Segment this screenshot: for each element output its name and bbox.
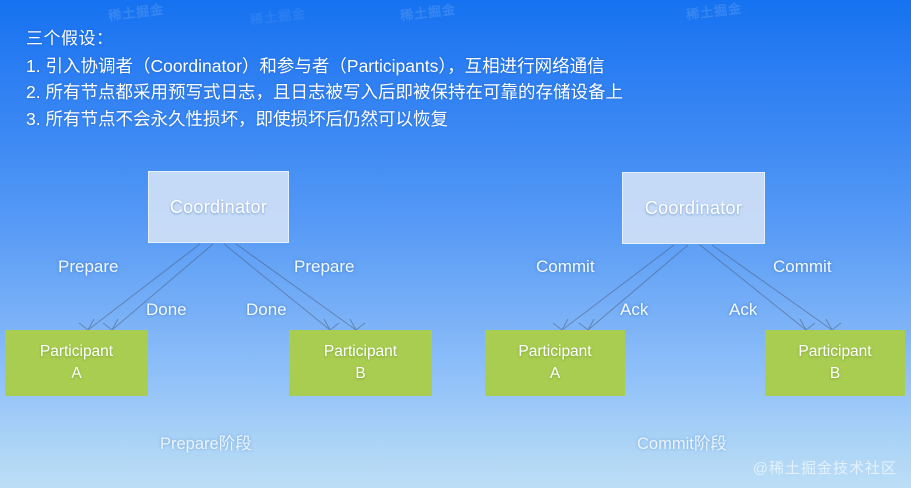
background-watermark: 稀土掘金 [399,0,457,24]
prepare-coordinator-box[interactable]: Coordinator [148,171,289,243]
edge-label-ack-right: Ack [729,300,757,320]
edge-label-commit-left: Commit [536,257,595,277]
assumption-item-1: 1. 引入协调者（Coordinator）和参与者（Participants），… [26,53,886,80]
edge-label-prepare-left: Prepare [58,257,118,277]
commit-participant-b-box[interactable]: Participant B [765,330,905,396]
prepare-participant-a-name: Participant [40,341,113,363]
edge-label-done-left: Done [146,300,187,320]
prepare-participant-a-box[interactable]: Participant A [5,330,148,396]
prepare-phase-caption: Prepare阶段 [160,430,252,454]
assumptions-title: 三个假设： [26,26,886,53]
corner-watermark: @稀土掘金技术社区 [753,457,897,478]
assumption-item-3: 3. 所有节点不会永久性损坏，即使损坏后仍然可以恢复 [26,106,886,133]
slide-canvas: 稀土掘金 稀土掘金 稀土掘金 稀土掘金 三个假设： 1. 引入协调者（Coord… [0,0,911,488]
assumptions-block: 三个假设： 1. 引入协调者（Coordinator）和参与者（Particip… [26,26,886,132]
commit-participant-b-name: Participant [798,341,871,363]
edge-label-ack-left: Ack [620,300,648,320]
edge-label-prepare-right: Prepare [294,257,354,277]
prepare-participant-b-name: Participant [324,341,397,363]
commit-participant-b-id: B [830,363,840,385]
commit-coordinator-label: Coordinator [645,198,742,219]
background-watermark: 稀土掘金 [107,0,165,24]
commit-phase-caption: Commit阶段 [637,430,727,454]
commit-coordinator-box[interactable]: Coordinator [622,172,765,244]
commit-participant-a-name: Participant [518,341,591,363]
prepare-coordinator-label: Coordinator [170,197,267,218]
commit-participant-a-id: A [550,363,560,385]
prepare-participant-b-box[interactable]: Participant B [289,330,432,396]
assumption-item-2: 2. 所有节点都采用预写式日志，且日志被写入后即被保持在可靠的存储设备上 [26,79,886,106]
background-watermark: 稀土掘金 [249,3,307,29]
commit-participant-a-box[interactable]: Participant A [485,330,625,396]
edge-label-commit-right: Commit [773,257,832,277]
prepare-participant-b-id: B [355,363,365,385]
prepare-participant-a-id: A [71,363,81,385]
background-watermark: 稀土掘金 [685,0,743,23]
edge-label-done-right: Done [246,300,287,320]
